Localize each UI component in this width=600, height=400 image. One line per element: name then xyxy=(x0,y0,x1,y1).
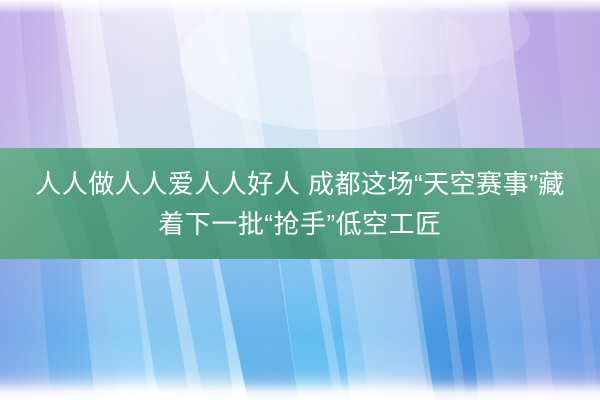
banner-image: 人人做人人爱人人好人 成都这场“天空赛事”藏 着下一批“抢手”低空工匠 xyxy=(0,0,600,400)
caption-band: 人人做人人爱人人好人 成都这场“天空赛事”藏 着下一批“抢手”低空工匠 xyxy=(0,148,600,259)
headline-line-1: 人人做人人爱人人好人 成都这场“天空赛事”藏 xyxy=(35,164,565,204)
headline: 人人做人人爱人人好人 成都这场“天空赛事”藏 着下一批“抢手”低空工匠 xyxy=(0,148,600,259)
headline-line-2: 着下一批“抢手”低空工匠 xyxy=(158,204,441,244)
